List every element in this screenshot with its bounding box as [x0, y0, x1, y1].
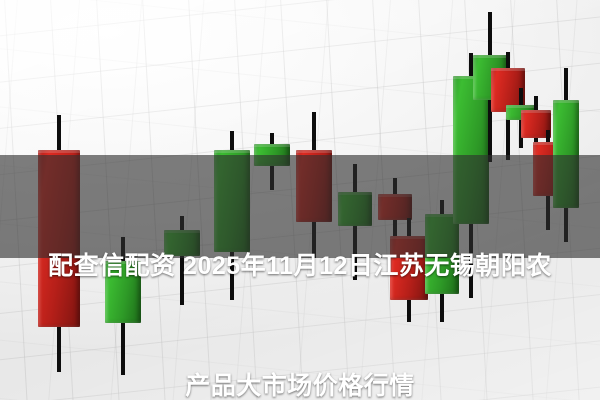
page-title: 配查信配资 2025年11月12日江苏无锡朝阳农 产品大市场价格行情: [0, 166, 600, 400]
page-title-line-1: 配查信配资 2025年11月12日江苏无锡朝阳农: [0, 246, 600, 286]
screenshot-canvas: 配查信配资 2025年11月12日江苏无锡朝阳农 产品大市场价格行情: [0, 0, 600, 400]
page-title-line-2: 产品大市场价格行情: [0, 366, 600, 400]
